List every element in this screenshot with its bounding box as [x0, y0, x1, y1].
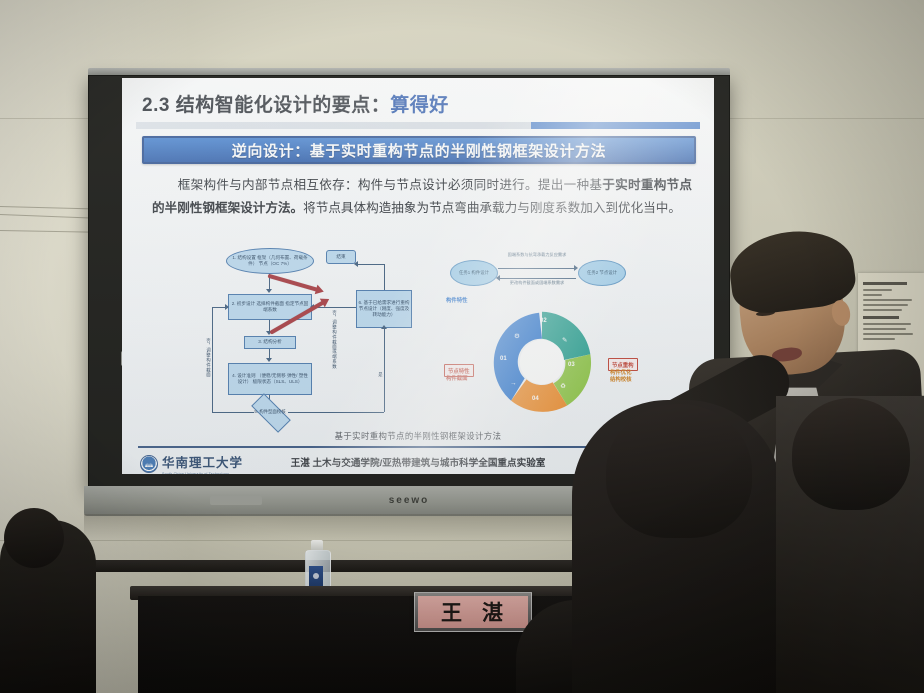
bottle-label: [309, 566, 323, 586]
cycle-caption-bottom: 更改构件截面或固端系数需求: [492, 280, 582, 285]
flow-node-6: 6. 基于已给需求进行重构节点设计（刚度、强度及转动能力）: [356, 290, 412, 328]
title-underline-bar: [136, 122, 700, 129]
connector-loop-left: [212, 307, 213, 412]
cycle-donut: 02 03 04 01 ⚙ ✎ ♻ →: [484, 304, 600, 420]
connector: [288, 412, 384, 413]
nameplate-surname: 王: [441, 597, 464, 627]
connector: [356, 264, 384, 265]
scut-emblem-icon: [140, 455, 158, 473]
cycle-arrow-forward: [498, 268, 576, 269]
slide-subtitle-banner: 逆向设计：基于实时重构节点的半刚性钢框架设计方法: [142, 136, 696, 164]
logo-chinese-name: 华南理工大学: [162, 452, 243, 471]
water-bottle: [305, 540, 329, 590]
cycle-label-component-property: 构件特性: [446, 298, 468, 305]
connector: [384, 264, 385, 290]
recycle-icon: ♻: [560, 382, 566, 390]
flow-node-1: 1. 结构设置 框架（几何布置、荷载条件） 节点（OC 7%）: [226, 248, 314, 274]
nameplate-card: 王 湛: [418, 596, 528, 628]
arrow-head: [266, 289, 272, 293]
flowchart: 1. 结构设置 框架（几何布置、荷载条件） 节点（OC 7%） 2. 初步设计 …: [206, 246, 436, 428]
slide-body-text: 框架构件与内部节点相互依存：构件与节点设计必须同时进行。提出一种基于实时重构节点…: [152, 174, 692, 221]
connector-loop-left: [212, 412, 254, 413]
segment-number-03: 03: [568, 362, 575, 368]
gear-icon: ⚙: [514, 332, 520, 340]
body-run-1: 框架构件与内部节点相互依存：构件与节点设计必须同时进行。提出一种基: [152, 178, 602, 192]
segment-number-04: 04: [532, 396, 539, 402]
cycle-caption-top: 固端系数与抗弯承载力反应需求: [492, 252, 582, 257]
segment-number-02: 02: [540, 318, 547, 324]
nameplate-givenname: 湛: [482, 597, 505, 627]
arrow-head: [574, 265, 578, 271]
slide-title-accent: 算得好: [390, 95, 449, 116]
lecture-hall-photo: seewo 2.3 结构智能化设计的要点：算得好 逆向设计：基于实时重构节点的半…: [0, 0, 924, 693]
body-run-3: 将节点具体构造抽象为节点弯曲承载力与刚度系数加入到优化当中。: [303, 201, 681, 215]
slide-subtitle-text: 逆向设计：基于实时重构节点的半刚性钢框架设计方法: [232, 140, 606, 161]
audience-head-right: [792, 398, 910, 510]
branch-label-left: 否，调整构件截面: [206, 338, 212, 377]
arrow-head: [225, 304, 229, 310]
connector: [384, 328, 385, 412]
university-logo: 华南理工大学 South China University of Technol…: [140, 452, 243, 474]
branch-label-yes: 是: [378, 372, 384, 377]
slide-title-prefix: 2.3 结构智能化设计的要点：: [142, 95, 390, 116]
cycle-tag-joint-property-sub: 构件截面: [446, 376, 468, 383]
footer-presenter-line: 王湛 土木与交通学院/亚热带建筑与城市科学全国重点实验室: [291, 455, 546, 469]
logo-english-name: South China University of Technology: [162, 472, 243, 474]
annotation-arrow-red: [267, 274, 318, 292]
display-brand-label: seewo: [389, 495, 430, 506]
cycle-task-1-ellipse: 任务1 构件设计: [450, 260, 498, 286]
flow-node-3: 3. 结构分析: [244, 336, 296, 349]
arrow-head: [354, 261, 358, 267]
cycle-arrow-back: [498, 278, 576, 279]
slide-title: 2.3 结构智能化设计的要点：算得好: [142, 90, 449, 117]
audience-head-center: [606, 404, 752, 538]
audience-head-left: [4, 508, 64, 568]
arrow-right-icon: →: [510, 380, 517, 387]
flow-node-4: 4. 设计准则 （便稳/无侧移 弹性/ 塑性设计） 极限状态（SLS、ULS）: [228, 363, 312, 395]
desk-nameplate: 王 湛: [414, 592, 532, 632]
speaker-vent: [210, 496, 262, 505]
flow-node-end: 结束: [326, 250, 356, 264]
segment-number-01: 01: [500, 356, 507, 362]
pencil-icon: ✎: [562, 336, 567, 344]
arrow-head: [381, 325, 387, 329]
arrow-head: [266, 358, 272, 362]
branch-label-mid: 否，调整构件截面或端系数: [332, 310, 338, 369]
